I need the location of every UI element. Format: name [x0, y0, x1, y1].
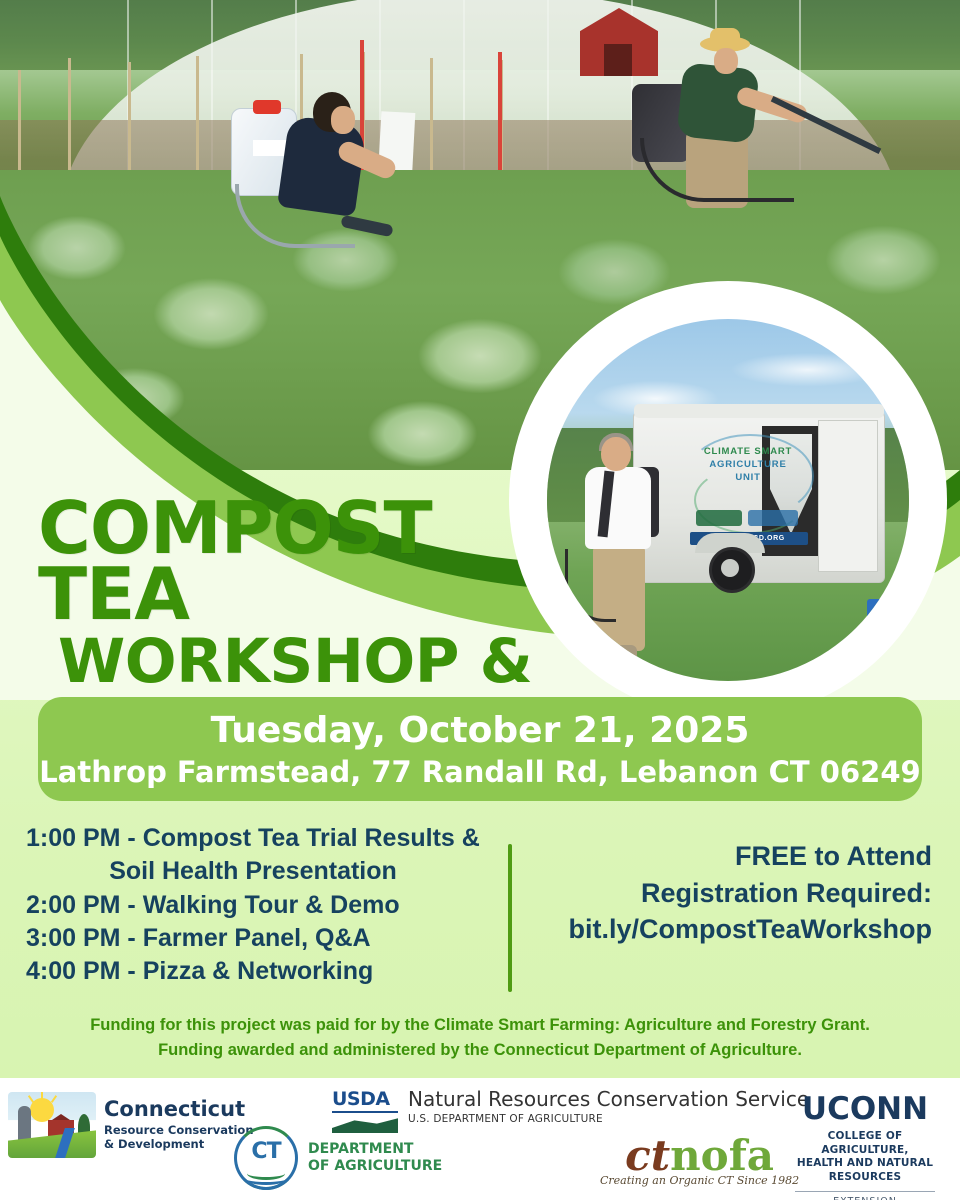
rcd-sub-line-2: & Development — [104, 1137, 254, 1151]
blue-bucket — [867, 599, 901, 629]
usda-wordmark: USDA — [332, 1088, 398, 1110]
nrcs-subtitle: U.S. DEPARTMENT OF AGRICULTURE — [408, 1113, 809, 1125]
rcd-sub-line-1: Resource Conservation — [104, 1123, 254, 1137]
usda-nrcs-logo: USDA Natural Resources Conservation Serv… — [332, 1088, 809, 1130]
ctnofa-ct: ct — [625, 1131, 670, 1180]
agenda-item: 3:00 PM - Farmer Panel, Q&A — [26, 922, 496, 955]
ct-seal-icon: CT — [234, 1126, 298, 1190]
page-title: COMPOST TEA — [38, 495, 568, 627]
ctnofa-logo: ctnofa Creating an Organic CT Since 1982 — [600, 1136, 799, 1187]
rcd-name: Connecticut — [104, 1099, 254, 1120]
mobile-unit-trailer: CLIMATE SMART AGRICULTURE UNIT WWW.CTRCD… — [633, 411, 885, 583]
registration-block: FREE to Attend Registration Required: bi… — [512, 838, 932, 948]
date-location-banner: Tuesday, October 21, 2025 Lathrop Farmst… — [38, 697, 922, 801]
uconn-line-1: COLLEGE OF AGRICULTURE, — [790, 1130, 940, 1157]
funding-statement: Funding for this project was paid for by… — [0, 1013, 960, 1063]
free-to-attend-text: FREE to Attend — [512, 838, 932, 875]
funding-line-1: Funding for this project was paid for by… — [0, 1013, 960, 1038]
agenda-item: Soil Health Presentation — [26, 855, 496, 888]
trailer-partner-logos — [696, 508, 802, 528]
compost-tea-unit-photo: CLIMATE SMART AGRICULTURE UNIT WWW.CTRCD… — [516, 288, 940, 712]
uconn-extension-logo: UCONN COLLEGE OF AGRICULTURE, HEALTH AND… — [790, 1094, 940, 1200]
registration-required-text: Registration Required: — [512, 875, 932, 912]
details-section: 1:00 PM - Compost Tea Trial Results & So… — [0, 822, 960, 1012]
event-date: Tuesday, October 21, 2025 — [211, 710, 750, 751]
trailer-line-2: AGRICULTURE — [692, 459, 804, 472]
rcd-farm-illustration — [8, 1092, 96, 1158]
ct-monogram: CT — [237, 1139, 295, 1164]
trailer-line-3: UNIT — [692, 472, 804, 485]
sun-icon — [30, 1098, 54, 1122]
funding-line-2: Funding awarded and administered by the … — [0, 1038, 960, 1063]
ctnofa-tagline: Creating an Organic CT Since 1982 — [600, 1174, 799, 1187]
nrcs-title: Natural Resources Conservation Service — [408, 1088, 809, 1110]
ctdoa-line-2: OF AGRICULTURE — [308, 1158, 442, 1175]
sponsor-logo-bar: Connecticut Resource Conservation & Deve… — [0, 1078, 960, 1200]
event-location: Lathrop Farmstead, 77 Randall Rd, Lebano… — [39, 755, 920, 789]
trailer-wheel — [709, 547, 755, 593]
agenda-item: 4:00 PM - Pizza & Networking — [26, 955, 496, 988]
usda-mark-icon: USDA — [332, 1088, 398, 1130]
ct-rcd-logo: Connecticut Resource Conservation & Deve… — [8, 1092, 254, 1158]
agenda-item: 2:00 PM - Walking Tour & Demo — [26, 889, 496, 922]
event-flyer: CLIMATE SMART AGRICULTURE UNIT WWW.CTRCD… — [0, 0, 960, 1200]
agenda-list: 1:00 PM - Compost Tea Trial Results & So… — [26, 822, 496, 988]
agenda-item: 1:00 PM - Compost Tea Trial Results & — [26, 822, 496, 855]
trailer-line-1: CLIMATE SMART — [692, 446, 804, 459]
ct-dept-agriculture-logo: CT DEPARTMENT OF AGRICULTURE — [234, 1126, 442, 1190]
trailer-branding: CLIMATE SMART AGRICULTURE UNIT — [692, 446, 804, 484]
ctdoa-line-1: DEPARTMENT — [308, 1141, 442, 1158]
registration-link[interactable]: bit.ly/CompostTeaWorkshop — [512, 911, 932, 948]
uconn-extension-label: EXTENSION — [790, 1196, 940, 1200]
uconn-line-2: HEALTH AND NATURAL — [790, 1157, 940, 1171]
uconn-line-3: RESOURCES — [790, 1171, 940, 1185]
uconn-wordmark: UCONN — [790, 1094, 940, 1125]
ctnofa-nofa: nofa — [670, 1131, 774, 1180]
shed-door — [604, 44, 632, 76]
